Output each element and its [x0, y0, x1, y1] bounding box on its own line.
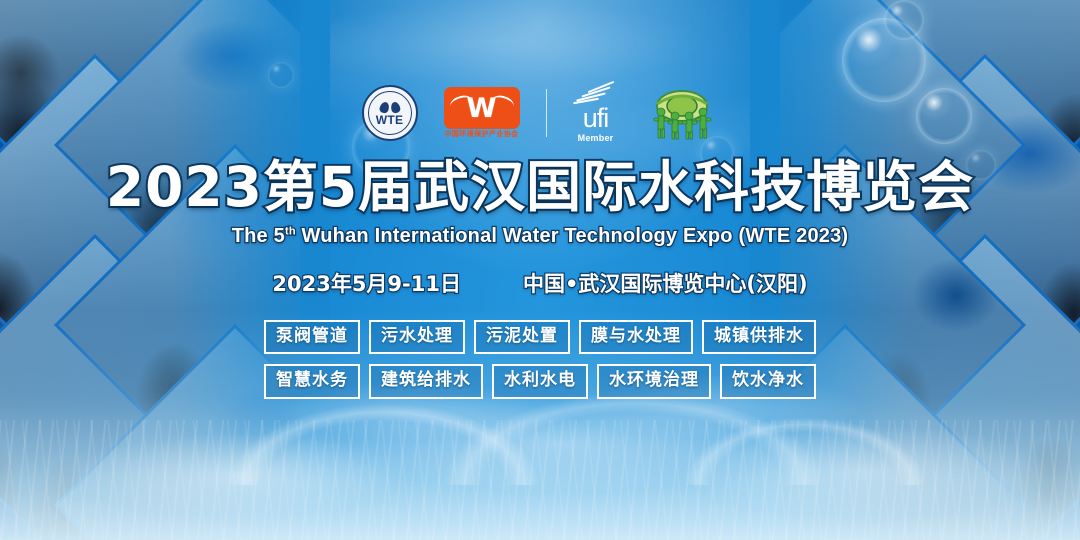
wing-mark-icon: W [467, 95, 497, 122]
wte-logo-ring [368, 91, 412, 135]
logo-row: WTE W 中国环境保护产业协会 ufi Member [362, 82, 719, 144]
ufi-logo-text: ufi [583, 105, 609, 132]
topic-chip[interactable]: 水利水电 [492, 364, 588, 398]
ufi-swoosh-icon [573, 84, 619, 104]
wte-logo: WTE [362, 85, 418, 141]
topic-chip[interactable]: 膜与水处理 [579, 320, 693, 354]
expo-banner: WTE W 中国环境保护产业协会 ufi Member [0, 0, 1080, 540]
topic-chip[interactable]: 污泥处置 [474, 320, 570, 354]
subtitle-prefix: The 5 [232, 225, 285, 247]
event-date: 2023年5月9-11日 [272, 268, 461, 298]
green-expo-logo [645, 86, 719, 140]
topic-chip[interactable]: 污水处理 [369, 320, 465, 354]
association-caption: 中国环境保护产业协会 [445, 131, 519, 139]
topic-row-1: 泵阀管道 污水处理 污泥处置 膜与水处理 城镇供排水 [264, 320, 816, 354]
topic-chip[interactable]: 水环境治理 [597, 364, 711, 398]
topic-chips: 泵阀管道 污水处理 污泥处置 膜与水处理 城镇供排水 智慧水务 建筑给排水 水利… [264, 320, 816, 399]
logo-divider [546, 89, 547, 137]
topic-chip[interactable]: 饮水净水 [720, 364, 816, 398]
topic-chip[interactable]: 泵阀管道 [264, 320, 360, 354]
event-venue: 中国•武汉国际博览中心(汉阳) [523, 268, 808, 298]
topic-chip[interactable]: 城镇供排水 [702, 320, 816, 354]
topic-chip[interactable]: 智慧水务 [264, 364, 360, 398]
page-subtitle-english: The 5th Wuhan International Water Techno… [232, 225, 849, 248]
event-meta: 2023年5月9-11日 中国•武汉国际博览中心(汉阳) [272, 268, 807, 298]
topic-row-2: 智慧水务 建筑给排水 水利水电 水环境治理 饮水净水 [264, 364, 816, 398]
association-logo: W 中国环境保护产业协会 [444, 87, 520, 139]
topic-chip[interactable]: 建筑给排水 [369, 364, 483, 398]
subtitle-ordinal: th [285, 225, 296, 237]
subtitle-rest: Wuhan International Water Technology Exp… [296, 225, 849, 247]
page-title: 2023第5届武汉国际水科技博览会 [106, 160, 974, 215]
ufi-member-label: Member [578, 133, 614, 143]
association-badge: W [444, 87, 520, 129]
ufi-logo: ufi Member [573, 84, 619, 143]
banner-content: WTE W 中国环境保护产业协会 ufi Member [0, 0, 1080, 540]
